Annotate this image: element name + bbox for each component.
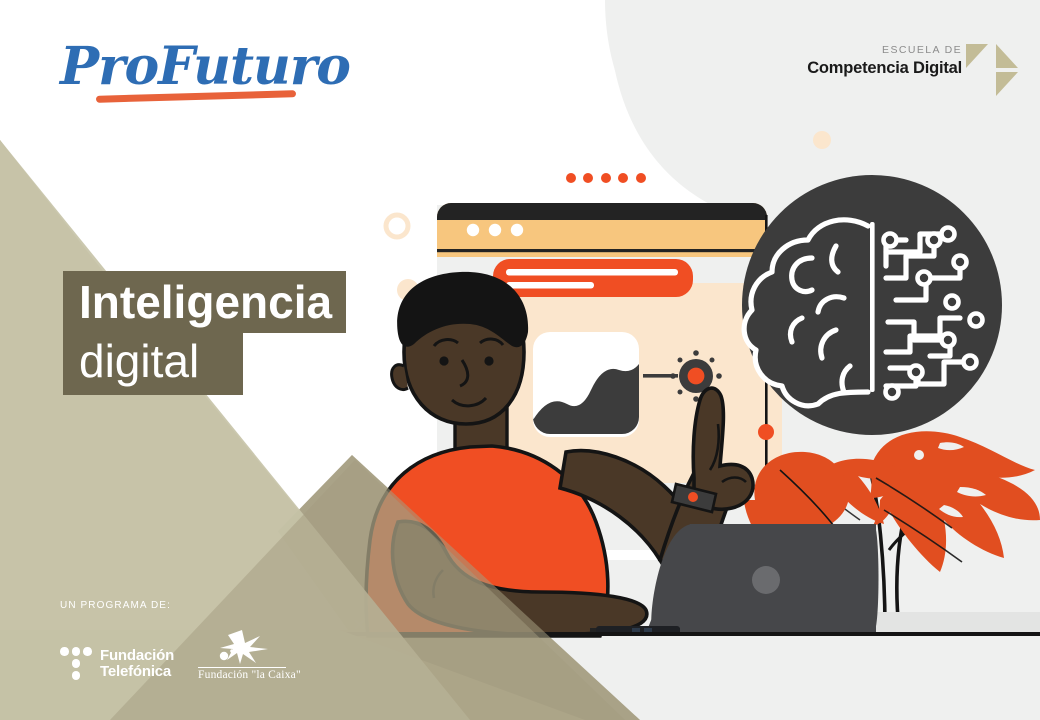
fundacion-telefonica-logo: Fundación Telefónica bbox=[60, 647, 174, 681]
fundacion-la-caixa-logo: Fundación "la Caixa" bbox=[198, 629, 286, 681]
escuela-label: ESCUELA DE bbox=[807, 44, 962, 57]
caixa-star-icon bbox=[198, 629, 286, 665]
escuela-competencia-digital-badge: ESCUELA DE Competencia Digital bbox=[807, 44, 962, 78]
title-line-1: Inteligencia bbox=[63, 271, 346, 333]
telefonica-line-2: Telefónica bbox=[100, 664, 174, 680]
laptop-logo bbox=[752, 566, 780, 594]
caixa-caption: Fundación "la Caixa" bbox=[198, 667, 286, 681]
browser-dot bbox=[467, 224, 479, 236]
competencia-digital-label: Competencia Digital bbox=[807, 58, 962, 78]
competencia-digital-mark-icon bbox=[966, 42, 1018, 98]
program-credits: UN PROGRAMA DE: Fundación Telefónica bbox=[60, 600, 300, 681]
page-title: Inteligencia digital bbox=[63, 271, 346, 395]
profuturo-wordmark: ProFuturo bbox=[60, 38, 340, 96]
cream-dot bbox=[813, 131, 831, 149]
browser-dot bbox=[511, 224, 523, 236]
telefonica-dots-icon bbox=[60, 647, 92, 681]
sponsor-logos: Fundación Telefónica Fundación "la Caixa… bbox=[60, 629, 300, 681]
program-label: UN PROGRAMA DE: bbox=[60, 600, 300, 611]
title-line-2: digital bbox=[63, 333, 243, 395]
profuturo-logo: ProFuturo bbox=[60, 38, 340, 108]
orange-banner bbox=[493, 259, 693, 297]
browser-dot bbox=[489, 224, 501, 236]
slide-canvas: ProFuturo ESCUELA DE Competencia Digital… bbox=[0, 0, 1040, 720]
brain-circuit-badge bbox=[742, 175, 1002, 435]
telefonica-line-1: Fundación bbox=[100, 648, 174, 664]
telefonica-wordmark: Fundación Telefónica bbox=[100, 648, 174, 680]
